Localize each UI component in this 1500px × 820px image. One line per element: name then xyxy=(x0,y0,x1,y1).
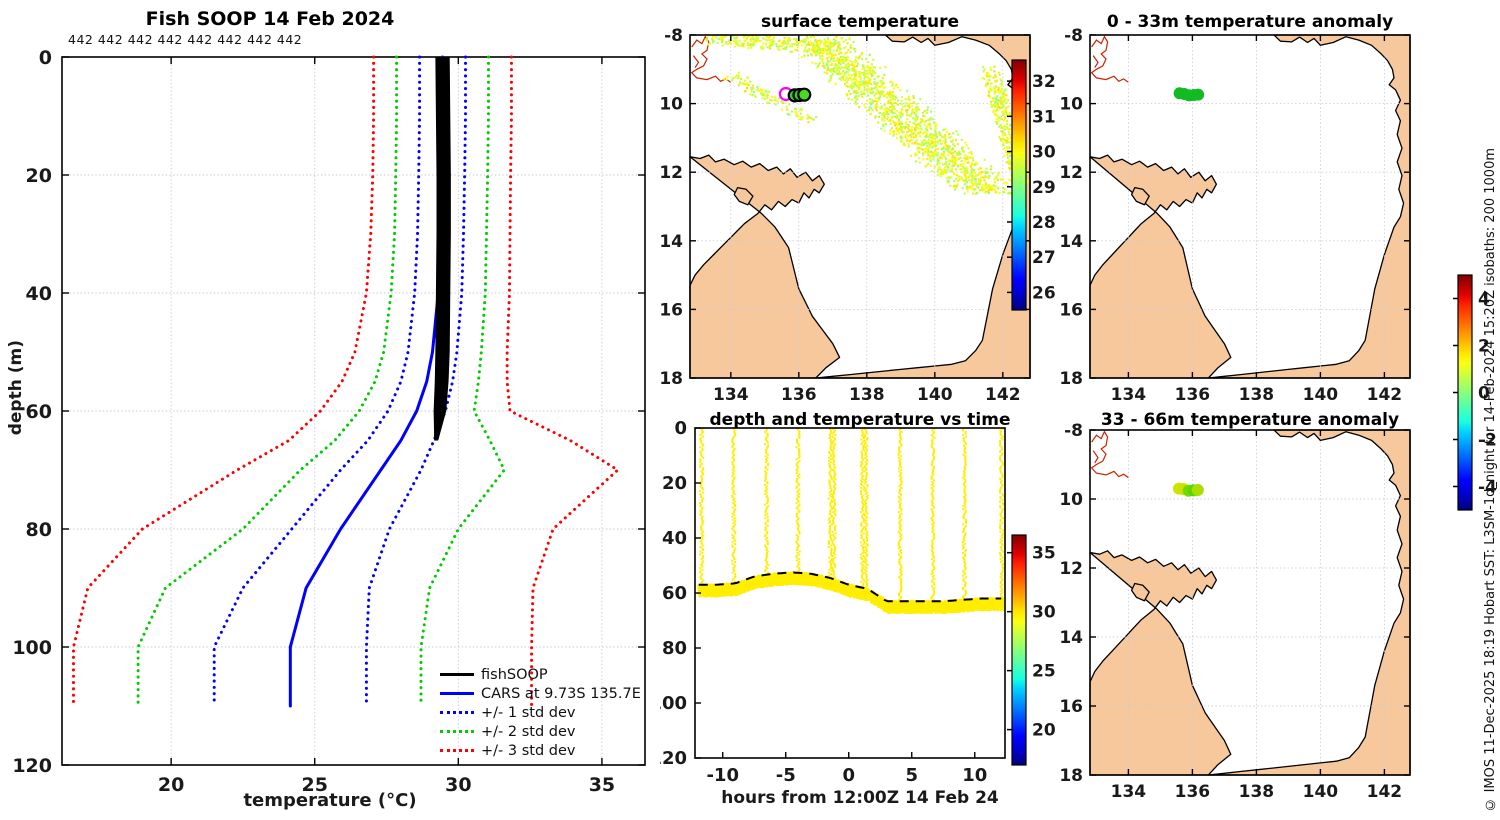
svg-text:60: 60 xyxy=(26,401,52,423)
svg-text:0: 0 xyxy=(39,47,52,69)
anomaly-33-66m-panel: 33 - 66m temperature anomaly 13413613814… xyxy=(1060,400,1440,820)
anomaly-0-33m-panel: 0 - 33m temperature anomaly 134136138140… xyxy=(1060,0,1440,400)
copyright-note: © IMOS 11-Dec-2025 18:19 Hobart SST: L3S… xyxy=(1483,148,1498,812)
legend-label: fishSOOP xyxy=(481,667,548,683)
anomaly-0-33m-map: 134136138140142-8-10-12-14-16-18 xyxy=(1060,0,1440,400)
svg-text:136: 136 xyxy=(781,385,817,400)
svg-text:-8: -8 xyxy=(664,26,683,46)
legend-swatch xyxy=(440,692,474,695)
legend-label: CARS at 9.73S 135.7E xyxy=(481,686,641,702)
svg-text:27: 27 xyxy=(1032,248,1056,268)
legend-item: CARS at 9.73S 135.7E xyxy=(440,684,641,703)
svg-text:26: 26 xyxy=(1032,283,1056,303)
svg-text:120: 120 xyxy=(12,755,52,777)
depth-time-panel: depth and temperature vs time hours from… xyxy=(660,400,1060,820)
svg-text:30: 30 xyxy=(445,774,471,796)
legend-label: +/- 1 std dev xyxy=(481,705,575,721)
depth-time-chart: -10-5051002040608010012020253035 xyxy=(660,400,1060,820)
svg-text:140: 140 xyxy=(917,385,953,400)
svg-text:20: 20 xyxy=(158,774,184,796)
legend-item: +/- 1 std dev xyxy=(440,703,641,722)
svg-text:80: 80 xyxy=(26,519,52,541)
svg-text:142: 142 xyxy=(985,385,1021,400)
legend-item: +/- 2 std dev xyxy=(440,722,641,741)
legend-swatch xyxy=(440,711,474,714)
svg-text:-16: -16 xyxy=(660,300,683,320)
legend-label: +/- 3 std dev xyxy=(481,743,575,759)
svg-text:20: 20 xyxy=(26,165,52,187)
legend-item: +/- 3 std dev xyxy=(440,741,641,760)
svg-text:28: 28 xyxy=(1032,213,1056,233)
figure-root: Fish SOOP 14 Feb 2024 442 442 442 442 44… xyxy=(0,0,1500,820)
svg-text:31: 31 xyxy=(1032,107,1056,127)
surface-temperature-panel: surface temperature 134136138140142-8-10… xyxy=(660,0,1060,400)
anomaly-33-66m-map: 134136138140142-8-10-12-14-16-18 xyxy=(1060,400,1440,820)
profile-panel: Fish SOOP 14 Feb 2024 442 442 442 442 44… xyxy=(0,0,660,820)
svg-text:40: 40 xyxy=(26,283,52,305)
legend-swatch xyxy=(440,730,474,733)
svg-text:100: 100 xyxy=(12,637,52,659)
svg-text:134: 134 xyxy=(713,385,749,400)
svg-text:32: 32 xyxy=(1032,72,1056,92)
svg-text:25: 25 xyxy=(302,774,328,796)
svg-text:-12: -12 xyxy=(660,163,683,183)
legend-item: fishSOOP xyxy=(440,665,641,684)
legend-swatch xyxy=(440,673,474,676)
svg-text:35: 35 xyxy=(589,774,615,796)
svg-text:29: 29 xyxy=(1032,178,1056,198)
surface-temperature-map: 134136138140142-8-10-12-14-16-1826272829… xyxy=(660,0,1060,400)
svg-text:-18: -18 xyxy=(660,369,683,389)
legend-swatch xyxy=(440,749,474,752)
svg-text:-10: -10 xyxy=(660,95,683,115)
svg-text:138: 138 xyxy=(849,385,885,400)
svg-text:30: 30 xyxy=(1032,143,1056,163)
legend-label: +/- 2 std dev xyxy=(481,724,575,740)
profile-legend: fishSOOPCARS at 9.73S 135.7E+/- 1 std de… xyxy=(440,665,641,760)
svg-text:-14: -14 xyxy=(660,232,683,252)
